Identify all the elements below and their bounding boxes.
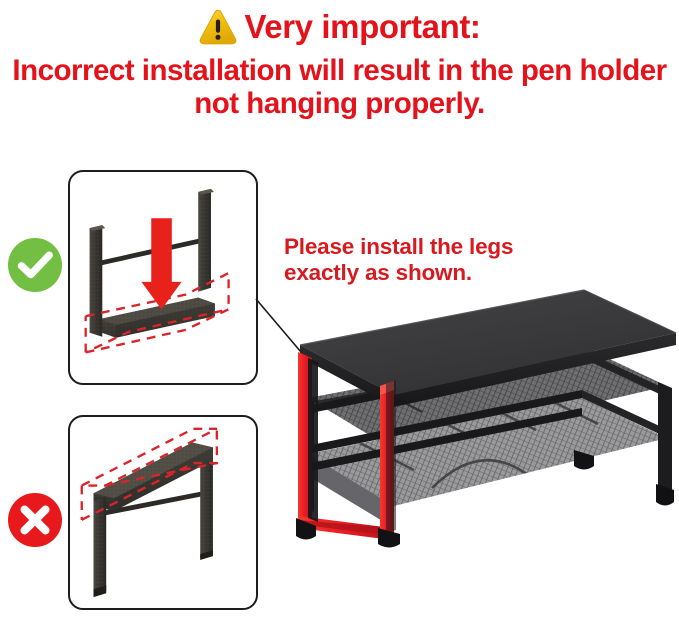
headline-subtitle-line2: not hanging properly. (6, 87, 673, 120)
headline-subtitle-line1: Incorrect installation will result in th… (12, 54, 666, 87)
leg-frame-correct-diagram (70, 172, 256, 383)
headline-subtitle: Incorrect installation will result in th… (0, 50, 679, 120)
bottom-bar-correct (99, 298, 215, 338)
right-post-correct (198, 189, 214, 292)
headline-block: Very important: Incorrect installation w… (0, 4, 679, 120)
callout-line1: Please install the legs (284, 234, 513, 259)
product-image-monitor-stand (282, 278, 679, 548)
product-right-leg (656, 382, 674, 506)
check-circle-icon (6, 236, 64, 294)
headline-title: Very important: (244, 8, 480, 46)
page-root: Very important: Incorrect installation w… (0, 0, 679, 621)
warning-triangle-icon (198, 8, 238, 46)
panel-correct-installation (68, 170, 258, 385)
down-arrow-icon (141, 218, 181, 309)
x-circle-icon (6, 491, 64, 549)
leg-frame-incorrect-diagram (70, 417, 256, 608)
headline-row-title: Very important: (0, 4, 679, 50)
left-post-incorrect (93, 497, 106, 597)
panel-incorrect-installation (68, 415, 258, 610)
